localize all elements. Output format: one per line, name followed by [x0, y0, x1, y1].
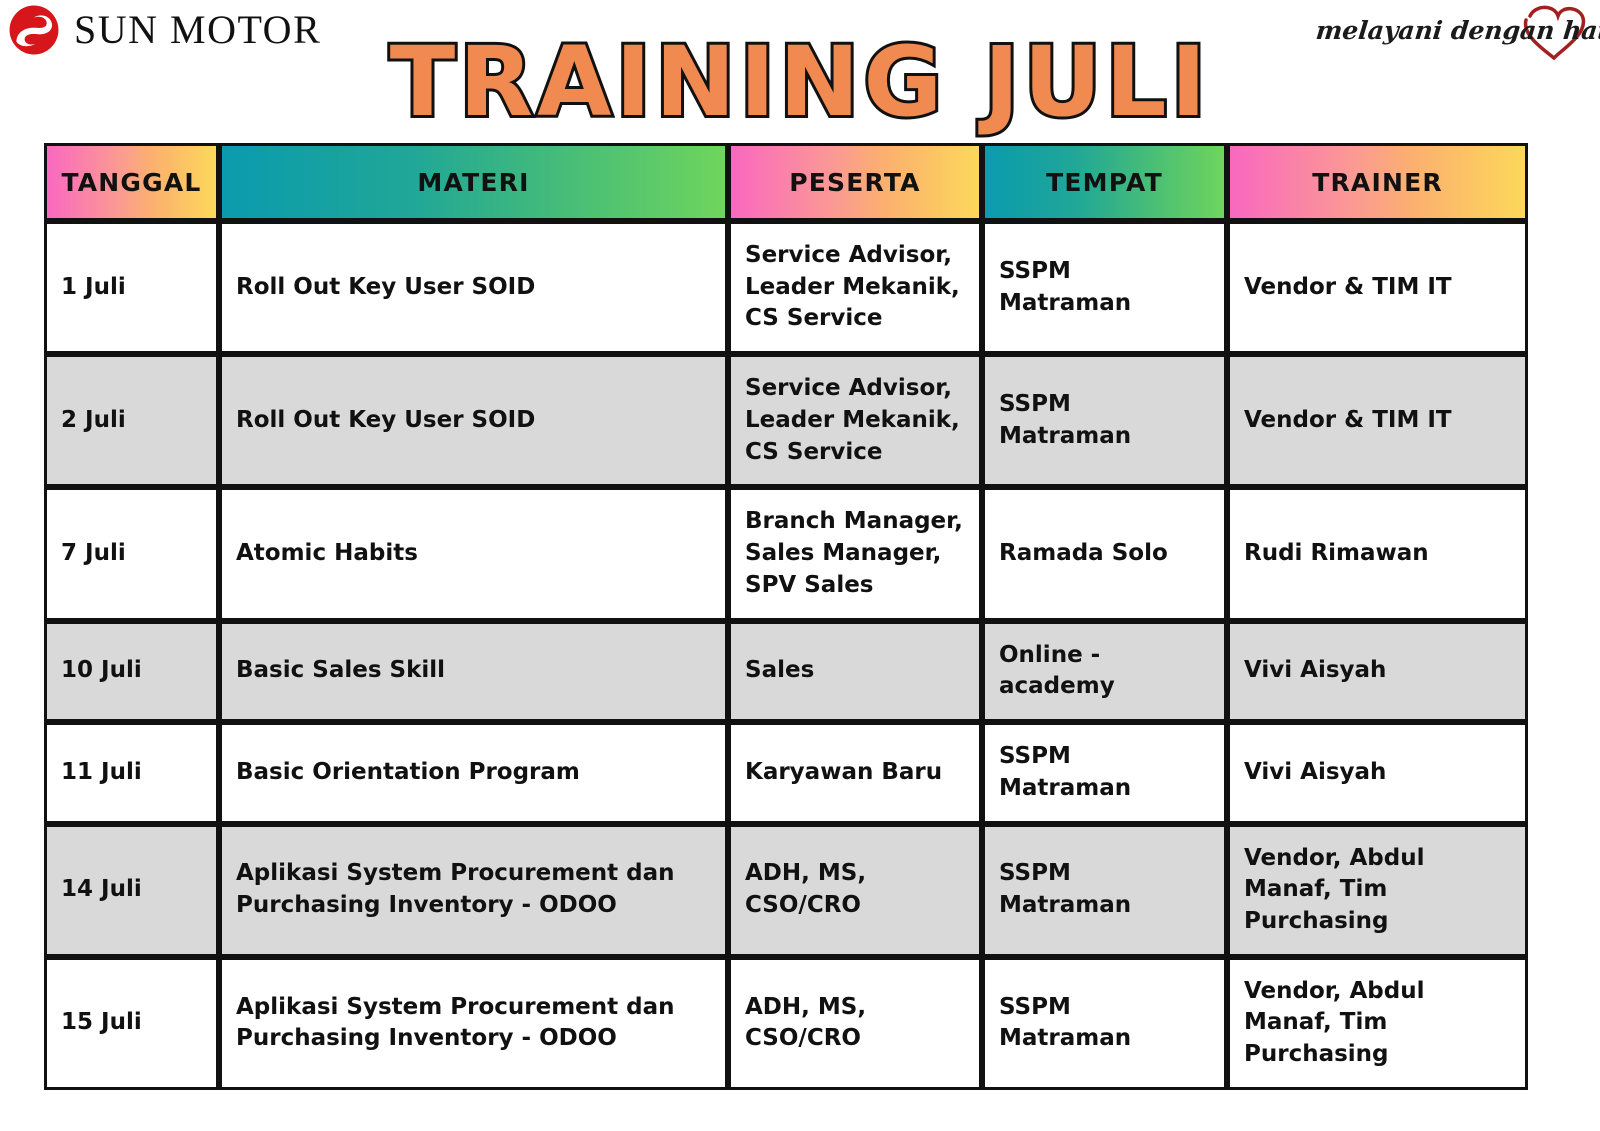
table-row: 1 Juli Roll Out Key User SOID Service Ad…	[44, 221, 1528, 354]
cell-tempat: SSPM Matraman	[982, 354, 1227, 487]
column-header-materi: MATERI	[219, 143, 728, 221]
cell-tanggal: 14 Juli	[44, 824, 219, 957]
column-header-tanggal: TANGGAL	[44, 143, 219, 221]
table-row: 11 Juli Basic Orientation Program Karyaw…	[44, 722, 1528, 823]
cell-peserta: Branch Manager, Sales Manager, SPV Sales	[728, 487, 982, 620]
poster-header: SUN MOTOR melayani dengan hati TRAINING …	[0, 0, 1600, 140]
cell-trainer: Vendor & TIM IT	[1227, 221, 1528, 354]
cell-materi: Aplikasi System Procurement dan Purchasi…	[219, 824, 728, 957]
cell-materi: Basic Sales Skill	[219, 621, 728, 722]
cell-peserta: Sales	[728, 621, 982, 722]
cell-materi: Aplikasi System Procurement dan Purchasi…	[219, 957, 728, 1090]
cell-materi: Roll Out Key User SOID	[219, 221, 728, 354]
cell-trainer: Vivi Aisyah	[1227, 621, 1528, 722]
cell-tanggal: 2 Juli	[44, 354, 219, 487]
cell-tanggal: 15 Juli	[44, 957, 219, 1090]
cell-tempat: SSPM Matraman	[982, 722, 1227, 823]
table-row: 14 Juli Aplikasi System Procurement dan …	[44, 824, 1528, 957]
cell-tanggal: 1 Juli	[44, 221, 219, 354]
cell-materi: Atomic Habits	[219, 487, 728, 620]
cell-tempat: Online - academy	[982, 621, 1227, 722]
table-row: 7 Juli Atomic Habits Branch Manager, Sal…	[44, 487, 1528, 620]
table-row: 2 Juli Roll Out Key User SOID Service Ad…	[44, 354, 1528, 487]
cell-peserta: Service Advisor, Leader Mekanik, CS Serv…	[728, 354, 982, 487]
column-header-tempat: TEMPAT	[982, 143, 1227, 221]
cell-trainer: Vivi Aisyah	[1227, 722, 1528, 823]
cell-trainer: Vendor, Abdul Manaf, Tim Purchasing	[1227, 824, 1528, 957]
cell-trainer: Vendor & TIM IT	[1227, 354, 1528, 487]
cell-peserta: ADH, MS, CSO/CRO	[728, 824, 982, 957]
cell-tempat: SSPM Matraman	[982, 957, 1227, 1090]
cell-tanggal: 7 Juli	[44, 487, 219, 620]
page-title: TRAINING JULI	[0, 34, 1600, 130]
training-schedule-table: TANGGAL MATERI PESERTA TEMPAT TRAINER 1 …	[44, 143, 1528, 1090]
cell-tanggal: 11 Juli	[44, 722, 219, 823]
cell-peserta: Karyawan Baru	[728, 722, 982, 823]
cell-tempat: Ramada Solo	[982, 487, 1227, 620]
cell-tanggal: 10 Juli	[44, 621, 219, 722]
table-row: 10 Juli Basic Sales Skill Sales Online -…	[44, 621, 1528, 722]
cell-tempat: SSPM Matraman	[982, 824, 1227, 957]
column-header-peserta: PESERTA	[728, 143, 982, 221]
cell-peserta: Service Advisor, Leader Mekanik, CS Serv…	[728, 221, 982, 354]
cell-peserta: ADH, MS, CSO/CRO	[728, 957, 982, 1090]
cell-trainer: Vendor, Abdul Manaf, Tim Purchasing	[1227, 957, 1528, 1090]
table-header-row: TANGGAL MATERI PESERTA TEMPAT TRAINER	[44, 143, 1528, 221]
cell-trainer: Rudi Rimawan	[1227, 487, 1528, 620]
cell-materi: Roll Out Key User SOID	[219, 354, 728, 487]
column-header-trainer: TRAINER	[1227, 143, 1528, 221]
table-row: 15 Juli Aplikasi System Procurement dan …	[44, 957, 1528, 1090]
cell-materi: Basic Orientation Program	[219, 722, 728, 823]
cell-tempat: SSPM Matraman	[982, 221, 1227, 354]
